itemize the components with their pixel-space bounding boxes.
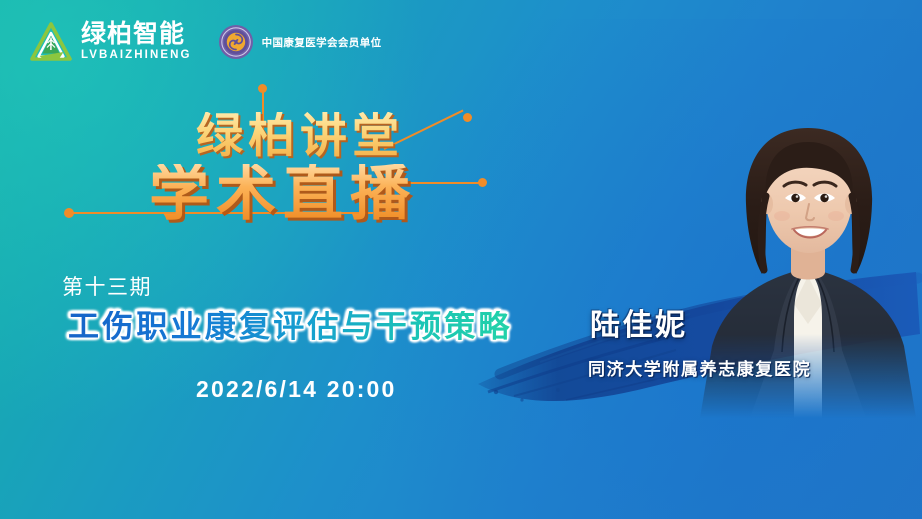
session-topic: 工伤职业康复评估与干预策略 xyxy=(68,311,513,342)
deco-dot-upper-right xyxy=(463,113,472,122)
triangle-tree-logo-icon xyxy=(30,22,72,62)
speaker-affiliation: 同济大学附属养志康复医院 xyxy=(588,355,811,380)
speaker-name: 陆佳妮 xyxy=(590,300,688,344)
brush-stroke-banner xyxy=(470,242,922,410)
episode-label: 第十三期 xyxy=(62,271,152,301)
deco-dot-left xyxy=(64,208,74,218)
brand-logo-lockup: 绿柏智能 LVBAIZHINENG xyxy=(30,22,192,62)
deco-dot-right xyxy=(478,178,487,187)
deco-dot-top xyxy=(258,84,267,93)
member-badge-text: 中国康复医学会会员单位 xyxy=(262,35,382,50)
session-topic-wrap: 工伤职业康复评估与干预策略 xyxy=(68,311,513,342)
program-title-line1: 绿柏讲堂 xyxy=(196,112,404,159)
brand-name-en: LVBAIZHINENG xyxy=(81,50,192,62)
program-title-line2: 学术直播 xyxy=(149,164,417,224)
background-glow-blue xyxy=(342,19,922,519)
association-seal-icon xyxy=(218,24,254,60)
brand-wordmark: 绿柏智能 LVBAIZHINENG xyxy=(81,22,192,62)
session-datetime: 2022/6/14 20:00 xyxy=(196,376,397,403)
program-title-block: 绿柏讲堂 学术直播 xyxy=(196,112,404,159)
header-logo-bar: 绿柏智能 LVBAIZHINENG 中国康复医学会会员单位 xyxy=(30,22,382,62)
brand-name-cn: 绿柏智能 xyxy=(81,22,192,47)
member-badge-lockup: 中国康复医学会会员单位 xyxy=(218,24,382,60)
live-stream-promo-banner: 绿柏智能 LVBAIZHINENG 中国康复医学会会员单位 xyxy=(0,0,922,519)
